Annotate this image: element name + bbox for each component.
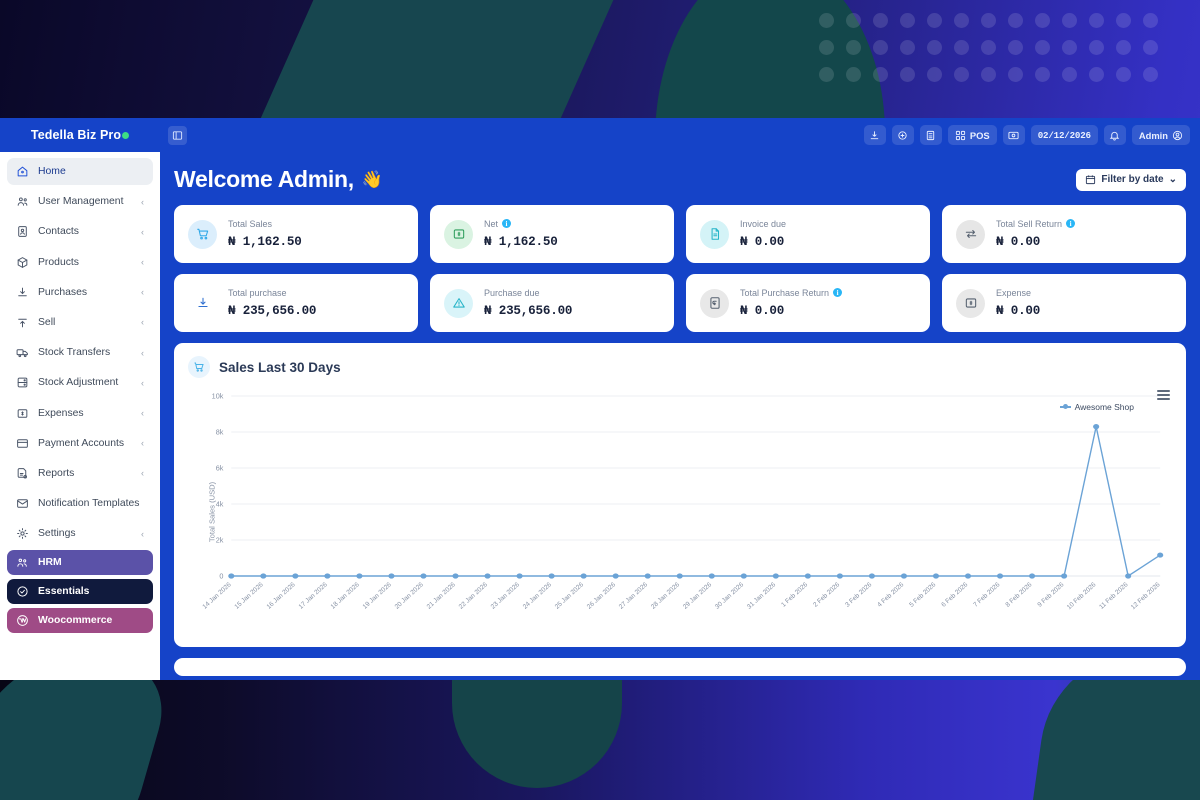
chart-canvas: 02k4k6k8k10k14 Jan 202615 Jan 202616 Jan… bbox=[188, 386, 1172, 638]
stat-card-total-sell-return[interactable]: Total Sell Returni₦ 0.00 bbox=[942, 205, 1186, 263]
online-dot-icon bbox=[122, 132, 129, 139]
dot-row bbox=[819, 40, 1158, 55]
sidebar-item-label: Stock Adjustment bbox=[38, 377, 132, 388]
contacts-icon bbox=[16, 225, 29, 238]
svg-text:10 Feb 2026: 10 Feb 2026 bbox=[1066, 581, 1098, 611]
dashboard-content: Welcome Admin, 👋 Filter by date ⌄ Total … bbox=[160, 152, 1200, 680]
dot bbox=[1116, 40, 1131, 55]
sidebar-item-label: Purchases bbox=[38, 287, 132, 298]
stat-card-label-wrap: Total Sell Returni bbox=[996, 219, 1075, 229]
upload-icon bbox=[16, 316, 29, 329]
chevron-left-icon: ‹ bbox=[141, 197, 144, 207]
stat-card-label: Net bbox=[484, 219, 498, 229]
user-menu-button[interactable]: Admin bbox=[1132, 125, 1190, 145]
welcome-row: Welcome Admin, 👋 Filter by date ⌄ bbox=[174, 152, 1186, 205]
wave-emoji-icon: 👋 bbox=[362, 170, 383, 190]
dot bbox=[954, 67, 969, 82]
svg-text:25 Jan 2026: 25 Jan 2026 bbox=[554, 581, 585, 611]
dot bbox=[1008, 40, 1023, 55]
dot-row bbox=[819, 67, 1158, 82]
stat-card-total-purchase[interactable]: Total purchase₦ 235,656.00 bbox=[174, 274, 418, 332]
stat-card-value: ₦ 235,656.00 bbox=[484, 304, 572, 318]
svg-text:30 Jan 2026: 30 Jan 2026 bbox=[714, 581, 745, 611]
dot bbox=[1062, 13, 1077, 28]
svg-text:5 Feb 2026: 5 Feb 2026 bbox=[908, 581, 937, 609]
stat-card-label: Total Sell Return bbox=[996, 219, 1062, 229]
sidebar-item-label: Reports bbox=[38, 468, 132, 479]
dot bbox=[1035, 13, 1050, 28]
svg-text:15 Jan 2026: 15 Jan 2026 bbox=[233, 581, 264, 611]
svg-text:18 Jan 2026: 18 Jan 2026 bbox=[330, 581, 361, 611]
box-icon bbox=[16, 256, 29, 269]
sidebar-item-stock-transfers[interactable]: Stock Transfers‹ bbox=[7, 339, 153, 366]
stat-card-label: Expense bbox=[996, 288, 1031, 298]
user-circle-icon bbox=[1172, 130, 1183, 141]
dot bbox=[846, 40, 861, 55]
user-menu-label: Admin bbox=[1139, 130, 1168, 141]
stat-card-label-wrap: Purchase due bbox=[484, 288, 572, 298]
sidebar-item-payment-accounts[interactable]: Payment Accounts‹ bbox=[7, 430, 153, 457]
svg-text:12 Feb 2026: 12 Feb 2026 bbox=[1130, 581, 1162, 611]
svg-text:4k: 4k bbox=[216, 500, 224, 509]
stat-card-label: Invoice due bbox=[740, 219, 786, 229]
chevron-left-icon: ‹ bbox=[141, 468, 144, 478]
dot bbox=[1062, 67, 1077, 82]
chevron-left-icon: ‹ bbox=[141, 287, 144, 297]
topbar: POS 02/12/2026 Admin bbox=[160, 118, 1200, 152]
report-icon bbox=[16, 467, 29, 480]
sidebar-item-essentials[interactable]: Essentials bbox=[7, 579, 153, 604]
cart-icon bbox=[188, 220, 217, 249]
money-note-icon bbox=[444, 220, 473, 249]
chart-legend[interactable]: Awesome Shop bbox=[1060, 402, 1134, 412]
sidebar-item-label: Woocommerce bbox=[38, 615, 144, 626]
stat-card-value: ₦ 1,162.50 bbox=[484, 235, 558, 249]
filter-by-date-button[interactable]: Filter by date ⌄ bbox=[1076, 169, 1186, 191]
svg-text:10k: 10k bbox=[212, 392, 224, 401]
calendar-icon bbox=[1085, 174, 1096, 185]
dot bbox=[1035, 67, 1050, 82]
chevron-left-icon: ‹ bbox=[141, 529, 144, 539]
stat-card-label: Total Purchase Return bbox=[740, 288, 829, 298]
svg-text:16 Jan 2026: 16 Jan 2026 bbox=[266, 581, 297, 611]
screen-button[interactable] bbox=[1003, 125, 1025, 145]
stat-card-total-purchase-return[interactable]: Total Purchase Returni₦ 0.00 bbox=[686, 274, 930, 332]
svg-text:21 Jan 2026: 21 Jan 2026 bbox=[426, 581, 457, 611]
sidebar-item-label: HRM bbox=[38, 557, 144, 568]
stat-card-label: Total Sales bbox=[228, 219, 272, 229]
sidebar-item-settings[interactable]: Settings‹ bbox=[7, 520, 153, 547]
svg-text:27 Jan 2026: 27 Jan 2026 bbox=[618, 581, 649, 611]
info-icon[interactable]: i bbox=[1066, 219, 1075, 228]
svg-text:19 Jan 2026: 19 Jan 2026 bbox=[362, 581, 393, 611]
notifications-button[interactable] bbox=[1104, 125, 1126, 145]
dot bbox=[819, 13, 834, 28]
hamburger-menu-icon[interactable] bbox=[1157, 390, 1170, 402]
stat-card-net[interactable]: Neti₦ 1,162.50 bbox=[430, 205, 674, 263]
sidebar-nav: HomeUser Management‹Contacts‹Products‹Pu… bbox=[0, 152, 160, 680]
svg-text:20 Jan 2026: 20 Jan 2026 bbox=[394, 581, 425, 611]
pos-button-label: POS bbox=[970, 130, 990, 141]
dot bbox=[1143, 40, 1158, 55]
dot bbox=[900, 40, 915, 55]
sidebar-item-hrm[interactable]: HRM bbox=[7, 550, 153, 575]
stat-card-value: ₦ 0.00 bbox=[996, 235, 1040, 249]
chevron-left-icon: ‹ bbox=[141, 438, 144, 448]
svg-text:2k: 2k bbox=[216, 536, 224, 545]
team-icon bbox=[16, 556, 29, 569]
sidebar-item-sell[interactable]: Sell‹ bbox=[7, 309, 153, 336]
svg-text:0: 0 bbox=[219, 572, 223, 581]
sidebar-item-expenses[interactable]: Expenses‹ bbox=[7, 400, 153, 427]
backdrop-bottom bbox=[0, 670, 1200, 800]
sales-chart[interactable]: Total Sales (USD) Awesome Shop 02k4k6k8k… bbox=[188, 386, 1172, 638]
sidebar-item-user-management[interactable]: User Management‹ bbox=[7, 188, 153, 215]
stat-card-value: ₦ 235,656.00 bbox=[228, 304, 316, 318]
current-date-text: 02/12/2026 bbox=[1038, 130, 1091, 141]
filter-by-date-label: Filter by date bbox=[1101, 174, 1163, 185]
stat-card-expense[interactable]: Expense₦ 0.00 bbox=[942, 274, 1186, 332]
download-button[interactable] bbox=[864, 125, 886, 145]
warning-icon bbox=[444, 289, 473, 318]
return-box-icon bbox=[700, 289, 729, 318]
dot bbox=[927, 40, 942, 55]
truck-icon bbox=[16, 346, 29, 359]
info-icon[interactable]: i bbox=[502, 219, 511, 228]
page-title: Welcome Admin, bbox=[174, 166, 354, 193]
database-icon bbox=[16, 376, 29, 389]
chevron-left-icon: ‹ bbox=[141, 257, 144, 267]
sidebar-item-reports[interactable]: Reports‹ bbox=[7, 460, 153, 487]
dot bbox=[927, 13, 942, 28]
dot bbox=[1089, 40, 1104, 55]
sidebar-item-label: Contacts bbox=[38, 226, 132, 237]
dot bbox=[873, 13, 888, 28]
stat-card-label-wrap: Total purchase bbox=[228, 288, 316, 298]
stat-card-value: ₦ 0.00 bbox=[996, 304, 1040, 318]
stat-card-label-wrap: Invoice due bbox=[740, 219, 786, 229]
users-icon bbox=[16, 195, 29, 208]
gear-icon bbox=[16, 527, 29, 540]
dot bbox=[1062, 40, 1077, 55]
svg-text:6 Feb 2026: 6 Feb 2026 bbox=[940, 581, 969, 609]
chevron-down-icon: ⌄ bbox=[1169, 174, 1177, 185]
document-icon bbox=[700, 220, 729, 249]
brand-name: Tedella Biz Pro bbox=[31, 128, 121, 142]
sidebar-item-products[interactable]: Products‹ bbox=[7, 249, 153, 276]
chevron-left-icon: ‹ bbox=[141, 408, 144, 418]
dot bbox=[954, 13, 969, 28]
sidebar-item-label: Essentials bbox=[38, 586, 144, 597]
dot bbox=[1008, 67, 1023, 82]
dot bbox=[873, 67, 888, 82]
stat-card-value: ₦ 1,162.50 bbox=[228, 235, 302, 249]
add-button[interactable] bbox=[892, 125, 914, 145]
svg-text:2 Feb 2026: 2 Feb 2026 bbox=[812, 581, 841, 609]
dot bbox=[846, 13, 861, 28]
legend-series-label: Awesome Shop bbox=[1075, 402, 1134, 412]
sidebar-item-contacts[interactable]: Contacts‹ bbox=[7, 218, 153, 245]
app-window: Tedella Biz Pro HomeUser Management‹Cont… bbox=[0, 118, 1200, 680]
brand-logo[interactable]: Tedella Biz Pro bbox=[0, 118, 160, 152]
stat-card-label-wrap: Expense bbox=[996, 288, 1040, 298]
exchange-icon bbox=[956, 220, 985, 249]
stat-card-label-wrap: Total Purchase Returni bbox=[740, 288, 842, 298]
svg-text:9 Feb 2026: 9 Feb 2026 bbox=[1036, 581, 1065, 609]
credit-card-icon bbox=[16, 437, 29, 450]
dot bbox=[1089, 13, 1104, 28]
sidebar-item-label: Settings bbox=[38, 528, 132, 539]
svg-text:23 Jan 2026: 23 Jan 2026 bbox=[490, 581, 521, 611]
bottom-panel-placeholder bbox=[174, 658, 1186, 676]
legend-marker-icon bbox=[1060, 406, 1071, 408]
svg-text:28 Jan 2026: 28 Jan 2026 bbox=[650, 581, 681, 611]
dot bbox=[954, 40, 969, 55]
stat-card-purchase-due[interactable]: Purchase due₦ 235,656.00 bbox=[430, 274, 674, 332]
check-circle-icon bbox=[16, 585, 29, 598]
stat-card-invoice-due[interactable]: Invoice due₦ 0.00 bbox=[686, 205, 930, 263]
sales-chart-title: Sales Last 30 Days bbox=[219, 360, 341, 375]
stat-card-total-sales[interactable]: Total Sales₦ 1,162.50 bbox=[174, 205, 418, 263]
sidebar-item-woocommerce[interactable]: Woocommerce bbox=[7, 608, 153, 633]
dot bbox=[927, 67, 942, 82]
sales-chart-panel: Sales Last 30 Days Total Sales (USD) Awe… bbox=[174, 343, 1186, 647]
dot bbox=[1035, 40, 1050, 55]
svg-text:11 Feb 2026: 11 Feb 2026 bbox=[1098, 581, 1130, 611]
svg-text:3 Feb 2026: 3 Feb 2026 bbox=[844, 581, 873, 609]
dot bbox=[1143, 13, 1158, 28]
dot bbox=[819, 67, 834, 82]
dot bbox=[981, 67, 996, 82]
dot bbox=[1116, 67, 1131, 82]
svg-text:1 Feb 2026: 1 Feb 2026 bbox=[780, 581, 809, 609]
money-note-icon bbox=[16, 407, 29, 420]
sidebar-item-purchases[interactable]: Purchases‹ bbox=[7, 279, 153, 306]
svg-text:4 Feb 2026: 4 Feb 2026 bbox=[876, 581, 905, 609]
calculator-button[interactable] bbox=[920, 125, 942, 145]
sidebar-item-notification-templates[interactable]: Notification Templates bbox=[7, 490, 153, 517]
sidebar-item-label: Notification Templates bbox=[38, 498, 144, 509]
sidebar-item-label: Expenses bbox=[38, 408, 132, 419]
chevron-left-icon: ‹ bbox=[141, 378, 144, 388]
svg-text:22 Jan 2026: 22 Jan 2026 bbox=[458, 581, 489, 611]
stat-cards-row-2: Total purchase₦ 235,656.00Purchase due₦ … bbox=[174, 274, 1186, 332]
stat-card-value: ₦ 0.00 bbox=[740, 304, 784, 318]
sidebar-item-home[interactable]: Home bbox=[7, 158, 153, 185]
chevron-left-icon: ‹ bbox=[141, 317, 144, 327]
cart-icon bbox=[188, 356, 210, 378]
stat-cards-row-1: Total Sales₦ 1,162.50Neti₦ 1,162.50Invoi… bbox=[174, 205, 1186, 263]
svg-text:26 Jan 2026: 26 Jan 2026 bbox=[586, 581, 617, 611]
chevron-left-icon: ‹ bbox=[141, 227, 144, 237]
dot bbox=[1143, 67, 1158, 82]
svg-text:29 Jan 2026: 29 Jan 2026 bbox=[682, 581, 713, 611]
download-icon bbox=[188, 289, 217, 318]
dot bbox=[900, 67, 915, 82]
chevron-left-icon: ‹ bbox=[141, 348, 144, 358]
sidebar-item-label: Payment Accounts bbox=[38, 438, 132, 449]
stat-card-label-wrap: Neti bbox=[484, 219, 558, 229]
current-date-display[interactable]: 02/12/2026 bbox=[1031, 125, 1098, 145]
sidebar-item-label: Products bbox=[38, 257, 132, 268]
stat-card-label-wrap: Total Sales bbox=[228, 219, 302, 229]
dot bbox=[981, 13, 996, 28]
backdrop-dot-grid bbox=[819, 13, 1158, 94]
dot bbox=[846, 67, 861, 82]
main-area: POS 02/12/2026 Admin Welcome Adm bbox=[160, 118, 1200, 680]
sidebar-item-stock-adjustment[interactable]: Stock Adjustment‹ bbox=[7, 369, 153, 396]
sales-chart-header: Sales Last 30 Days bbox=[188, 356, 1172, 378]
dot bbox=[1089, 67, 1104, 82]
dot bbox=[873, 40, 888, 55]
dot bbox=[900, 13, 915, 28]
svg-text:24 Jan 2026: 24 Jan 2026 bbox=[522, 581, 553, 611]
stat-card-label: Total purchase bbox=[228, 288, 287, 298]
wordpress-icon bbox=[16, 614, 29, 627]
sidebar-item-label: User Management bbox=[38, 196, 132, 207]
dot bbox=[819, 40, 834, 55]
svg-text:8 Feb 2026: 8 Feb 2026 bbox=[1004, 581, 1033, 609]
pos-button[interactable]: POS bbox=[948, 125, 997, 145]
home-icon bbox=[16, 165, 29, 178]
dot bbox=[1008, 13, 1023, 28]
sidebar: Tedella Biz Pro HomeUser Management‹Cont… bbox=[0, 118, 160, 680]
info-icon[interactable]: i bbox=[833, 288, 842, 297]
sidebar-toggle-button[interactable] bbox=[168, 126, 187, 145]
dot bbox=[981, 40, 996, 55]
sidebar-item-label: Home bbox=[38, 166, 144, 177]
svg-text:8k: 8k bbox=[216, 428, 224, 437]
envelope-icon bbox=[16, 497, 29, 510]
download-icon bbox=[16, 286, 29, 299]
sidebar-item-label: Sell bbox=[38, 317, 132, 328]
svg-text:6k: 6k bbox=[216, 464, 224, 473]
svg-text:14 Jan 2026: 14 Jan 2026 bbox=[201, 581, 232, 611]
dot bbox=[1116, 13, 1131, 28]
stat-card-value: ₦ 0.00 bbox=[740, 235, 784, 249]
stat-card-label: Purchase due bbox=[484, 288, 540, 298]
svg-text:7 Feb 2026: 7 Feb 2026 bbox=[972, 581, 1001, 609]
svg-text:31 Jan 2026: 31 Jan 2026 bbox=[746, 581, 777, 611]
sidebar-item-label: Stock Transfers bbox=[38, 347, 132, 358]
dot-row bbox=[819, 13, 1158, 28]
topbar-actions: POS 02/12/2026 Admin bbox=[864, 125, 1190, 145]
money-note-icon bbox=[956, 289, 985, 318]
svg-text:17 Jan 2026: 17 Jan 2026 bbox=[298, 581, 329, 611]
